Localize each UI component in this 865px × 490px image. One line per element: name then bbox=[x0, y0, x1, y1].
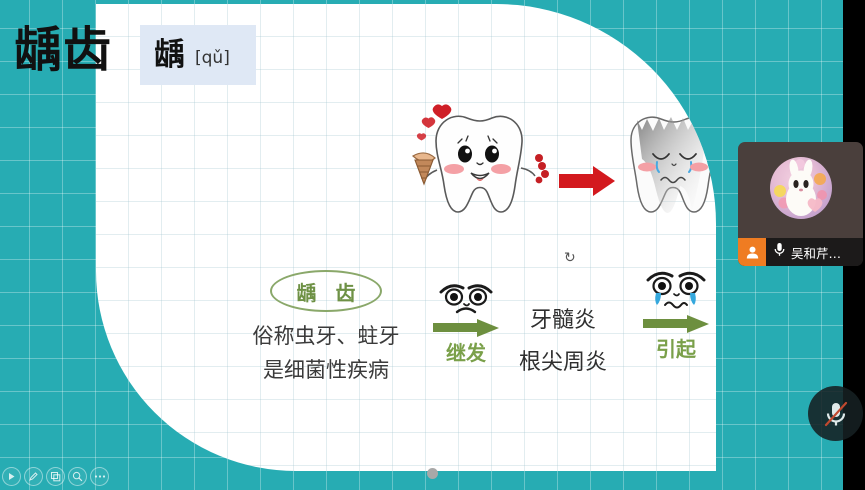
person-icon bbox=[738, 238, 766, 266]
pen-icon[interactable] bbox=[24, 467, 43, 486]
meeting-screen: ↻ 龋 齿 俗称虫牙、蛀牙 是细菌性疾病 bbox=[0, 0, 865, 490]
page-title: 龋齿 bbox=[14, 26, 112, 74]
character-pinyin-card: 龋 [qǔ] bbox=[140, 25, 256, 85]
zoom-icon[interactable] bbox=[68, 467, 87, 486]
page-indicator[interactable] bbox=[0, 468, 865, 479]
play-icon[interactable] bbox=[2, 467, 21, 486]
disease-middle-1: 牙髓炎 bbox=[488, 300, 638, 342]
tooth-illustration bbox=[391, 96, 716, 236]
page-dot[interactable] bbox=[427, 468, 438, 479]
participant-video-tile[interactable]: 吴和芹… bbox=[738, 142, 863, 266]
card-hanzi: 龋 bbox=[154, 40, 185, 71]
slide-cursor-icon: ↻ bbox=[564, 250, 576, 264]
shapes-icon[interactable] bbox=[46, 467, 65, 486]
red-arrow bbox=[559, 166, 615, 196]
description-line-2: 是细菌性疾病 bbox=[236, 354, 416, 384]
ellipse-label-quchi: 龋 齿 bbox=[270, 270, 382, 312]
disease-right-2: 颌骨炎 bbox=[698, 342, 716, 384]
participant-name: 吴和芹… bbox=[791, 243, 841, 262]
mic-on-icon[interactable] bbox=[773, 242, 786, 262]
disease-right-1: 牙曹骨炎 bbox=[698, 300, 716, 342]
participant-footer: 吴和芹… bbox=[738, 238, 863, 266]
mic-off-icon[interactable] bbox=[808, 386, 863, 441]
more-icon[interactable] bbox=[90, 467, 109, 486]
slide-toolbar[interactable] bbox=[2, 467, 109, 486]
disease-column-middle: 牙髓炎 根尖周炎 bbox=[488, 300, 638, 384]
concept-diagram: 龋 齿 俗称虫牙、蛀牙 是细菌性疾病 继发 bbox=[236, 266, 716, 396]
card-pinyin: [qǔ] bbox=[195, 48, 230, 68]
avatar bbox=[770, 157, 832, 219]
disease-column-right: 牙曹骨炎 颌骨炎 bbox=[698, 300, 716, 384]
disease-middle-2: 根尖周炎 bbox=[488, 342, 638, 384]
description-line-1: 俗称虫牙、蛀牙 bbox=[236, 320, 416, 350]
